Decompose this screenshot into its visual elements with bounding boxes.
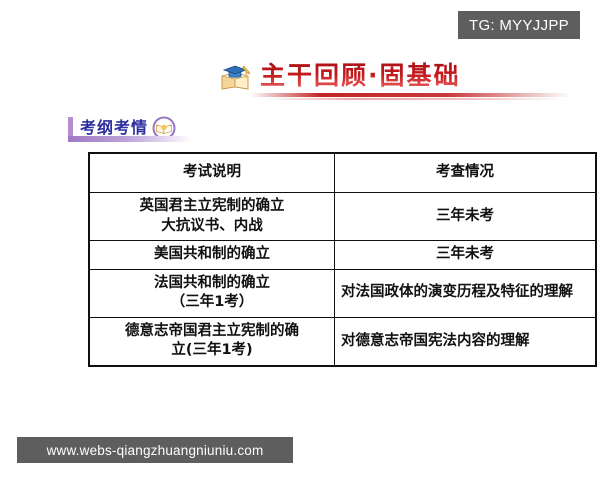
title-banner-inner: 主干回顾·固基础 (218, 56, 461, 96)
cell-spec-line: 英国君主立宪制的确立 (140, 198, 285, 214)
tg-watermark-badge: TG: MYYJJPP (458, 11, 580, 39)
cell-spec-line: 大抗议书、内战 (161, 218, 263, 234)
cell-spec-line: 立(三年1考) (171, 342, 252, 358)
title-banner: 主干回顾·固基础 (0, 56, 600, 104)
cell-spec-line: 法国共和制的确立 (154, 275, 270, 291)
cell-spec-line: 德意志帝国君主立宪制的确 (125, 323, 299, 339)
page-title: 主干回顾·固基础 (260, 59, 461, 93)
banner-underline (250, 93, 570, 97)
cell-spec-line: （三年1考） (171, 294, 254, 310)
cell-spec: 德意志帝国君主立宪制的确 立(三年1考) (89, 317, 335, 366)
banner-underline-soft (264, 98, 564, 100)
exam-table: 考试说明 考查情况 英国君主立宪制的确立 大抗议书、内战 三年未考 美国共和制的… (88, 152, 597, 367)
site-url-text: www.webs-qiangzhuangniuniu.com (47, 443, 264, 458)
table-row: 美国共和制的确立 三年未考 (89, 241, 596, 270)
cell-status: 对德意志帝国宪法内容的理解 (335, 317, 597, 366)
cell-status: 三年未考 (335, 193, 597, 241)
cell-spec: 英国君主立宪制的确立 大抗议书、内战 (89, 193, 335, 241)
table-header-row: 考试说明 考查情况 (89, 153, 596, 193)
section-underline (68, 136, 192, 142)
cell-status: 三年未考 (335, 241, 597, 270)
graduation-cap-book-icon (218, 60, 254, 92)
cell-spec: 美国共和制的确立 (89, 241, 335, 270)
cell-status: 对法国政体的演变历程及特征的理解 (335, 269, 597, 317)
table-row: 英国君主立宪制的确立 大抗议书、内战 三年未考 (89, 193, 596, 241)
site-url-watermark: www.webs-qiangzhuangniuniu.com (17, 437, 293, 463)
column-header-spec: 考试说明 (89, 153, 335, 193)
table-row: 法国共和制的确立 （三年1考） 对法国政体的演变历程及特征的理解 (89, 269, 596, 317)
exam-table-container: 考试说明 考查情况 英国君主立宪制的确立 大抗议书、内战 三年未考 美国共和制的… (88, 152, 570, 367)
tg-watermark-text: TG: MYYJJPP (469, 17, 569, 34)
column-header-status: 考查情况 (335, 153, 597, 193)
cell-spec-line: 美国共和制的确立 (154, 246, 270, 262)
cell-spec: 法国共和制的确立 （三年1考） (89, 269, 335, 317)
table-row: 德意志帝国君主立宪制的确 立(三年1考) 对德意志帝国宪法内容的理解 (89, 317, 596, 366)
